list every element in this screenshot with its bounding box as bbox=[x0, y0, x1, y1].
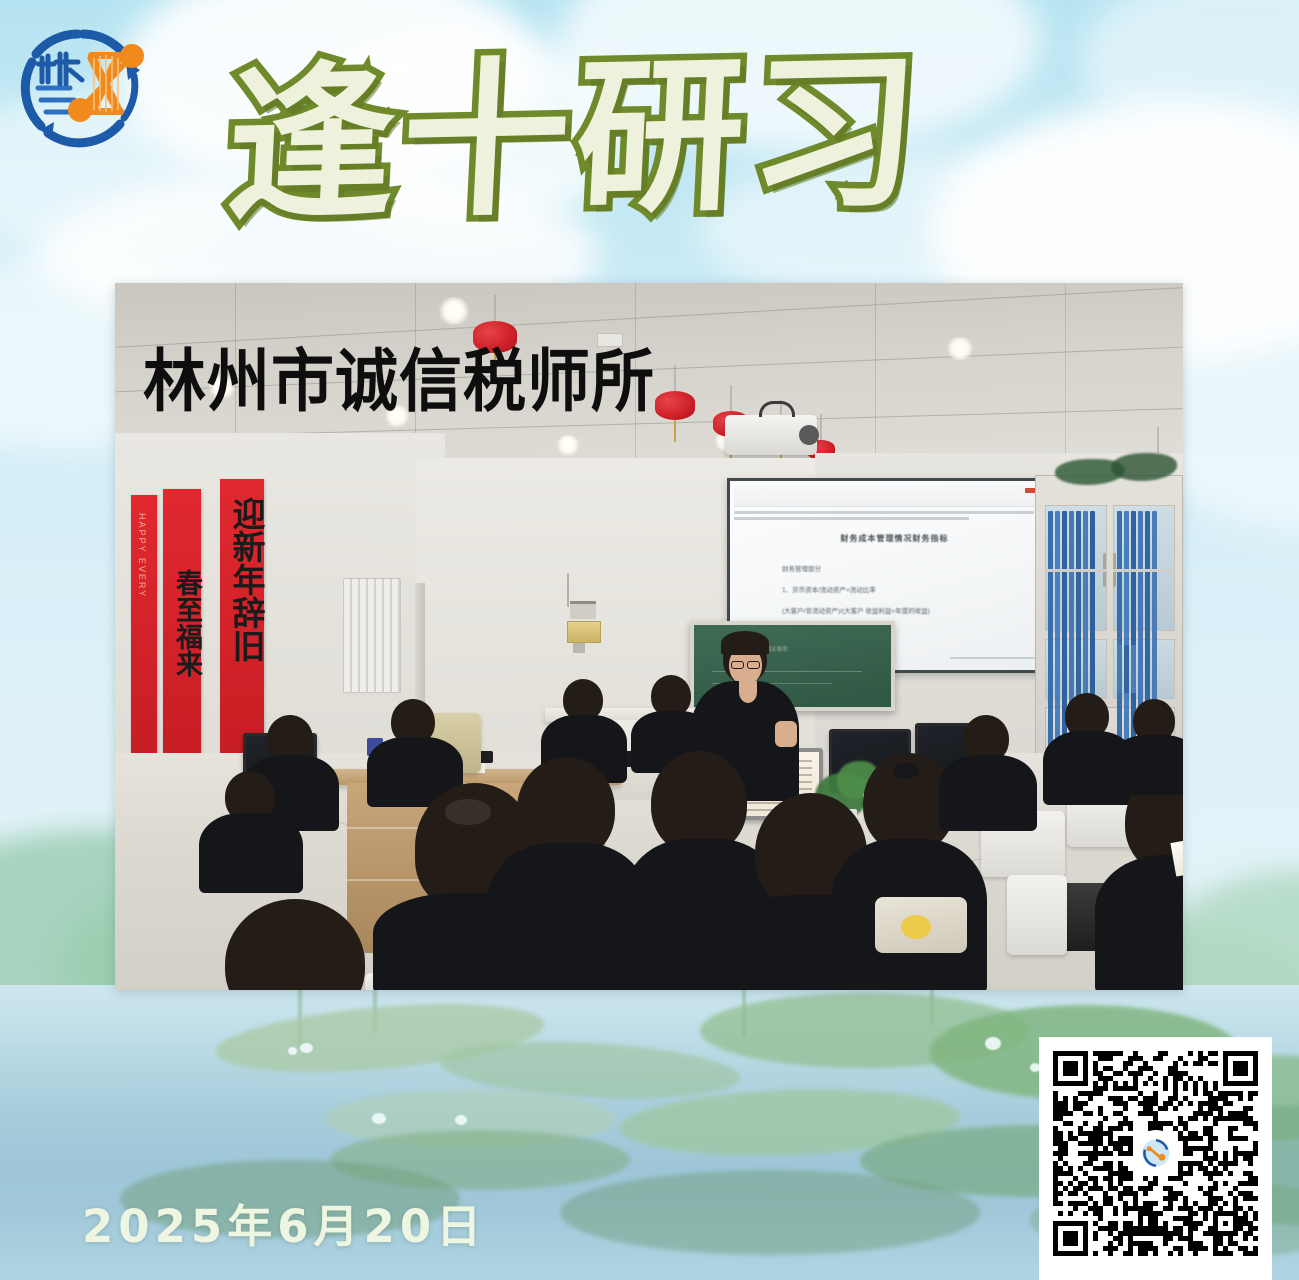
shelf-edge bbox=[1045, 569, 1107, 572]
cabinet-glass-door bbox=[1113, 505, 1175, 631]
file-binder bbox=[1131, 575, 1136, 627]
file-binder bbox=[1069, 575, 1074, 627]
file-binder bbox=[1062, 575, 1067, 627]
ceiling-downlight bbox=[945, 337, 975, 360]
file-binder bbox=[1145, 575, 1150, 627]
presenter-hair bbox=[721, 631, 769, 655]
document-line: (大客户/非流动资产)/(大客户 收益利益=年度的收益) bbox=[782, 605, 930, 615]
presenter-neck bbox=[739, 681, 757, 703]
new-year-couplet-left: HAPPY EVERY bbox=[131, 495, 157, 785]
couplet-english-text: HAPPY EVERY bbox=[137, 513, 147, 598]
toolbar-row bbox=[734, 511, 1034, 514]
ceiling-projector bbox=[725, 415, 817, 455]
file-binder bbox=[1131, 645, 1136, 693]
toolbar-row bbox=[734, 517, 969, 520]
cushion-pattern bbox=[901, 915, 931, 939]
wall-pipe bbox=[567, 573, 569, 607]
radiator bbox=[343, 578, 401, 693]
file-binder bbox=[1055, 575, 1060, 627]
file-binder bbox=[1076, 575, 1081, 627]
document-line: 1、货币资本/流动资产=流动比率 bbox=[782, 584, 876, 594]
ceiling-downlight bbox=[555, 435, 581, 455]
cabinet-glass-door bbox=[1113, 639, 1175, 699]
office-chair bbox=[1007, 875, 1067, 955]
event-date: 2025年6月20日 bbox=[82, 1190, 486, 1255]
qr-center-logo bbox=[1135, 1132, 1177, 1174]
ceiling-tile-line bbox=[875, 283, 876, 463]
wall-fixture bbox=[570, 603, 596, 619]
chengxin-globe-logo bbox=[8, 18, 158, 158]
lotus-leaf bbox=[560, 1170, 980, 1255]
couplet-text: 迎新年辞旧 bbox=[220, 497, 264, 662]
presenter-glasses bbox=[747, 661, 760, 669]
water-droplet bbox=[372, 1113, 386, 1124]
new-year-couplet-middle: 春至福来 bbox=[163, 489, 201, 789]
poster-canvas: 逢十研习 bbox=[0, 0, 1299, 1280]
projector-lens bbox=[799, 425, 819, 445]
file-binder bbox=[1048, 645, 1053, 693]
document-line: 财务管理部分 bbox=[782, 563, 821, 573]
poster-title-container: 逢十研习 bbox=[228, 24, 1068, 254]
ceiling-downlight bbox=[437, 297, 471, 325]
water-droplet bbox=[455, 1115, 467, 1125]
wechat-qr-code[interactable] bbox=[1039, 1037, 1272, 1280]
file-binder bbox=[1048, 575, 1053, 627]
couplet-text: 春至福来 bbox=[163, 569, 201, 677]
document-toolbar bbox=[734, 485, 1055, 507]
document-status-row bbox=[950, 657, 1040, 659]
file-binder bbox=[1117, 645, 1122, 693]
file-binder bbox=[1117, 575, 1122, 627]
event-photo: HAPPY EVERY 春至福来 迎新年辞旧 财务成本管理情况财务指标 财务管理 bbox=[115, 283, 1183, 990]
presenter-glasses bbox=[731, 661, 744, 669]
document-title: 财务成本管理情况财务指标 bbox=[730, 533, 1059, 544]
water-droplet bbox=[985, 1037, 1001, 1050]
presenter-hand bbox=[775, 721, 797, 747]
file-binder bbox=[1062, 645, 1067, 693]
attendee-body bbox=[1111, 735, 1183, 795]
attendee-body bbox=[939, 755, 1037, 831]
file-binder bbox=[1124, 645, 1129, 693]
hair-highlight bbox=[445, 799, 491, 825]
water-droplet bbox=[300, 1043, 313, 1053]
wall-notice-plate bbox=[567, 621, 601, 643]
projector-mount bbox=[759, 401, 795, 417]
water-droplet bbox=[288, 1047, 297, 1055]
ceiling-tile-line bbox=[1065, 283, 1066, 453]
photo-overlay-title: 林州市诚信税师所 bbox=[143, 327, 655, 425]
file-binder bbox=[1138, 575, 1143, 627]
page-title: 逢十研习 bbox=[223, 48, 928, 231]
wall-fixture-bar bbox=[570, 601, 596, 604]
shelf-edge bbox=[1113, 569, 1175, 572]
attendee-body bbox=[199, 813, 303, 893]
file-binder bbox=[1124, 575, 1129, 627]
red-lantern bbox=[655, 391, 695, 420]
file-binder bbox=[1055, 645, 1060, 693]
hair-tie bbox=[893, 763, 919, 779]
